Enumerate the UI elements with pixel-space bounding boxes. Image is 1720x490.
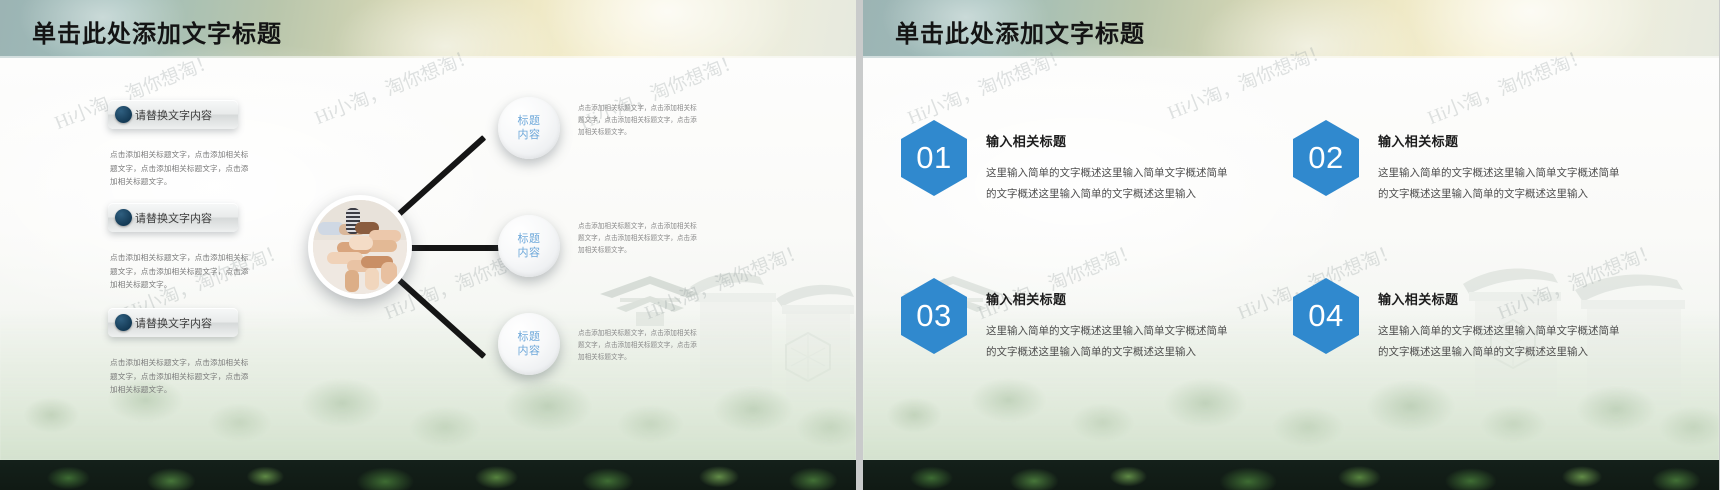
page-title: 单击此处添加文字标题	[895, 14, 1145, 49]
node-title-line1: 标题	[518, 232, 541, 246]
hex-body: 这里输入简单的文字概述这里输入简单文字概述简单的文字概述这里输入简单的文字概述这…	[986, 163, 1236, 205]
node-circle-1[interactable]: 标题 内容	[498, 97, 560, 159]
slide-left-header: 单击此处添加文字标题	[0, 0, 856, 58]
node-paragraph-3: 点击添加相关标题文字，点击添加相关标题文字，点击添加相关标题文字，点击添加相关标…	[578, 328, 698, 365]
page-title: 单击此处添加文字标题	[32, 14, 282, 49]
header-divider	[863, 56, 1719, 58]
hex-item-01[interactable]: 01 输入相关标题 这里输入简单的文字概述这里输入简单文字概述简单的文字概述这里…	[901, 120, 1236, 205]
pill-label: 请替换文字内容	[135, 315, 212, 331]
hex-text-block: 输入相关标题 这里输入简单的文字概述这里输入简单文字概述简单的文字概述这里输入简…	[986, 278, 1236, 363]
connector-line-2	[410, 245, 508, 251]
pill-label: 请替换文字内容	[135, 210, 212, 226]
node-paragraph-2: 点击添加相关标题文字，点击添加相关标题文字，点击添加相关标题文字，点击添加相关标…	[578, 221, 698, 258]
node-circle-3[interactable]: 标题 内容	[498, 313, 560, 375]
hex-title: 输入相关标题	[1378, 131, 1628, 150]
pill-button-1[interactable]: 请替换文字内容	[108, 100, 238, 129]
hex-text-block: 输入相关标题 这里输入简单的文字概述这里输入简单文字概述简单的文字概述这里输入简…	[1378, 120, 1628, 205]
header-divider	[0, 56, 856, 58]
bottom-strip-left	[0, 460, 856, 490]
hex-item-02[interactable]: 02 输入相关标题 这里输入简单的文字概述这里输入简单文字概述简单的文字概述这里…	[1293, 120, 1628, 205]
hexagon-badge: 04	[1293, 278, 1359, 354]
slide-right[interactable]: Hi小淘，淘你想淘！ Hi小淘，淘你想淘！ Hi小淘，淘你想淘！ Hi小淘，淘你…	[863, 0, 1719, 490]
pill-paragraph-1: 点击添加相关标题文字，点击添加相关标题文字，点击添加相关标题文字，点击添加相关标…	[110, 148, 253, 189]
hex-item-04[interactable]: 04 输入相关标题 这里输入简单的文字概述这里输入简单文字概述简单的文字概述这里…	[1293, 278, 1628, 363]
hex-body: 这里输入简单的文字概述这里输入简单文字概述简单的文字概述这里输入简单的文字概述这…	[986, 321, 1236, 363]
hub-photo[interactable]	[308, 195, 412, 299]
hex-text-block: 输入相关标题 这里输入简单的文字概述这里输入简单文字概述简单的文字概述这里输入简…	[1378, 278, 1628, 363]
pill-button-2[interactable]: 请替换文字内容	[108, 203, 238, 232]
pill-paragraph-2: 点击添加相关标题文字，点击添加相关标题文字，点击添加相关标题文字，点击添加相关标…	[110, 251, 253, 292]
pill-label: 请替换文字内容	[135, 107, 212, 123]
bullet-dot-icon	[115, 106, 132, 123]
hex-title: 输入相关标题	[986, 131, 1236, 150]
pill-paragraph-3: 点击添加相关标题文字，点击添加相关标题文字，点击添加相关标题文字，点击添加相关标…	[110, 356, 253, 397]
hexagon-badge: 03	[901, 278, 967, 354]
slide-deck: Hi小淘，淘你想淘！ Hi小淘，淘你想淘！ Hi小淘，淘你想淘！ Hi小淘，淘你…	[0, 0, 1720, 490]
node-title-line1: 标题	[518, 114, 541, 128]
hex-number: 04	[1308, 298, 1343, 334]
stacked-hands-icon	[313, 200, 407, 294]
bullet-dot-icon	[115, 209, 132, 226]
hex-item-03[interactable]: 03 输入相关标题 这里输入简单的文字概述这里输入简单文字概述简单的文字概述这里…	[901, 278, 1236, 363]
node-title-line2: 内容	[518, 246, 541, 260]
hex-number: 03	[916, 298, 951, 334]
bottom-strip-right	[863, 460, 1719, 490]
node-circle-2[interactable]: 标题 内容	[498, 215, 560, 277]
hex-text-block: 输入相关标题 这里输入简单的文字概述这里输入简单文字概述简单的文字概述这里输入简…	[986, 120, 1236, 205]
hex-title: 输入相关标题	[986, 289, 1236, 308]
hexagon-badge: 02	[1293, 120, 1359, 196]
hexagon-badge: 01	[901, 120, 967, 196]
hands-photo	[313, 200, 407, 294]
hex-number: 02	[1308, 140, 1343, 176]
bullet-dot-icon	[115, 314, 132, 331]
hex-body: 这里输入简单的文字概述这里输入简单文字概述简单的文字概述这里输入简单的文字概述这…	[1378, 163, 1628, 205]
hex-title: 输入相关标题	[1378, 289, 1628, 308]
pill-button-3[interactable]: 请替换文字内容	[108, 308, 238, 337]
slide-left[interactable]: Hi小淘，淘你想淘！ Hi小淘，淘你想淘！ Hi小淘，淘你想淘！ Hi小淘，淘你…	[0, 0, 856, 490]
node-title-line2: 内容	[518, 128, 541, 142]
slide-right-header: 单击此处添加文字标题	[863, 0, 1719, 58]
node-title-line1: 标题	[518, 330, 541, 344]
hex-number: 01	[916, 140, 951, 176]
node-title-line2: 内容	[518, 344, 541, 358]
node-paragraph-1: 点击添加相关标题文字，点击添加相关标题文字，点击添加相关标题文字，点击添加相关标…	[578, 103, 698, 140]
hex-body: 这里输入简单的文字概述这里输入简单文字概述简单的文字概述这里输入简单的文字概述这…	[1378, 321, 1628, 363]
